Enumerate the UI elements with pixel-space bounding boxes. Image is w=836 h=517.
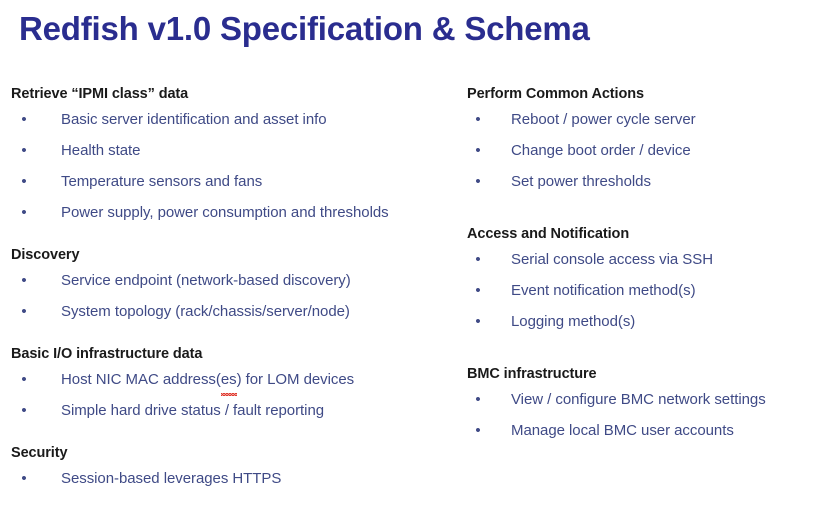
bullet-point-icon: • xyxy=(471,384,485,415)
bullet-list: •Host NIC MAC address(es) for LOM device… xyxy=(11,364,463,426)
list-item-label: Power supply, power consumption and thre… xyxy=(61,204,389,221)
bullet-point-icon: • xyxy=(471,104,485,135)
list-item: •Temperature sensors and fans xyxy=(11,166,463,197)
list-item-label: Service endpoint (network-based discover… xyxy=(61,272,351,289)
bullet-point-icon: • xyxy=(17,135,31,166)
bullet-list: •Service endpoint (network-based discove… xyxy=(11,265,463,327)
bullet-point-icon: • xyxy=(17,265,31,296)
list-item: •Change boot order / device xyxy=(467,135,832,166)
bullet-point-icon: • xyxy=(17,364,31,395)
list-item-label: View / configure BMC network settings xyxy=(511,391,766,408)
bullet-point-icon: • xyxy=(17,463,31,494)
bullet-point-icon: • xyxy=(17,166,31,197)
list-item: •Power supply, power consumption and thr… xyxy=(11,197,463,228)
list-item: •System topology (rack/chassis/server/no… xyxy=(11,296,463,327)
list-item-label: Manage local BMC user accounts xyxy=(511,422,734,439)
section-heading: Discovery xyxy=(11,245,463,265)
list-item: •Session-based leverages HTTPS xyxy=(11,463,463,494)
bullet-point-icon: • xyxy=(471,244,485,275)
list-item-label: Basic server identification and asset in… xyxy=(61,111,327,128)
list-item-label: Logging method(s) xyxy=(511,313,635,330)
list-item-label: Temperature sensors and fans xyxy=(61,173,262,190)
left-column: Retrieve “IPMI class” data•Basic server … xyxy=(11,84,463,494)
list-item-label: Session-based leverages HTTPS xyxy=(61,470,281,487)
section: BMC infrastructure•View / configure BMC … xyxy=(467,364,832,446)
bullet-point-icon: • xyxy=(471,415,485,446)
list-item: •Reboot / power cycle server xyxy=(467,104,832,135)
section-heading: Basic I/O infrastructure data xyxy=(11,344,463,364)
bullet-point-icon: • xyxy=(17,395,31,426)
spellcheck-underline: es xyxy=(221,364,237,395)
section-heading: Retrieve “IPMI class” data xyxy=(11,84,463,104)
bullet-point-icon: • xyxy=(471,306,485,337)
section: Discovery•Service endpoint (network-base… xyxy=(11,245,463,327)
section-heading: Security xyxy=(11,443,463,463)
list-item: •View / configure BMC network settings xyxy=(467,384,832,415)
right-column: Perform Common Actions•Reboot / power cy… xyxy=(467,84,832,446)
section-heading: Perform Common Actions xyxy=(467,84,832,104)
section: Perform Common Actions•Reboot / power cy… xyxy=(467,84,832,197)
list-item: •Event notification method(s) xyxy=(467,275,832,306)
list-item-label: Reboot / power cycle server xyxy=(511,111,696,128)
list-item-label: System topology (rack/chassis/server/nod… xyxy=(61,303,350,320)
slide-canvas: Redfish v1.0 Specification & Schema Retr… xyxy=(0,0,836,517)
section: Basic I/O infrastructure data•Host NIC M… xyxy=(11,344,463,426)
page-title: Redfish v1.0 Specification & Schema xyxy=(19,9,819,49)
list-item-label: Host NIC MAC address(es) for LOM devices xyxy=(61,371,354,388)
list-item: •Simple hard drive status / fault report… xyxy=(11,395,463,426)
list-item-label: Simple hard drive status / fault reporti… xyxy=(61,402,324,419)
bullet-point-icon: • xyxy=(471,275,485,306)
bullet-list: •Serial console access via SSH•Event not… xyxy=(467,244,832,337)
section: Security•Session-based leverages HTTPS xyxy=(11,443,463,494)
bullet-list: •Session-based leverages HTTPS xyxy=(11,463,463,494)
section-heading: BMC infrastructure xyxy=(467,364,832,384)
list-item-label: Health state xyxy=(61,142,140,159)
text-run: ) for LOM devices xyxy=(237,371,355,388)
section: Access and Notification•Serial console a… xyxy=(467,224,832,337)
list-item: •Service endpoint (network-based discove… xyxy=(11,265,463,296)
list-item-label: Serial console access via SSH xyxy=(511,251,713,268)
bullet-list: •View / configure BMC network settings•M… xyxy=(467,384,832,446)
list-item: •Logging method(s) xyxy=(467,306,832,337)
section-heading: Access and Notification xyxy=(467,224,832,244)
bullet-point-icon: • xyxy=(17,296,31,327)
text-run: Host NIC MAC address( xyxy=(61,371,221,388)
section: Retrieve “IPMI class” data•Basic server … xyxy=(11,84,463,228)
bullet-list: •Basic server identification and asset i… xyxy=(11,104,463,228)
bullet-point-icon: • xyxy=(17,104,31,135)
list-item-label: Event notification method(s) xyxy=(511,282,696,299)
list-item: •Serial console access via SSH xyxy=(467,244,832,275)
list-item: •Manage local BMC user accounts xyxy=(467,415,832,446)
list-item: •Basic server identification and asset i… xyxy=(11,104,463,135)
list-item: •Health state xyxy=(11,135,463,166)
bullet-point-icon: • xyxy=(17,197,31,228)
list-item: •Set power thresholds xyxy=(467,166,832,197)
bullet-list: •Reboot / power cycle server•Change boot… xyxy=(467,104,832,197)
list-item: •Host NIC MAC address(es) for LOM device… xyxy=(11,364,463,395)
bullet-point-icon: • xyxy=(471,135,485,166)
list-item-label: Set power thresholds xyxy=(511,173,651,190)
bullet-point-icon: • xyxy=(471,166,485,197)
list-item-label: Change boot order / device xyxy=(511,142,691,159)
